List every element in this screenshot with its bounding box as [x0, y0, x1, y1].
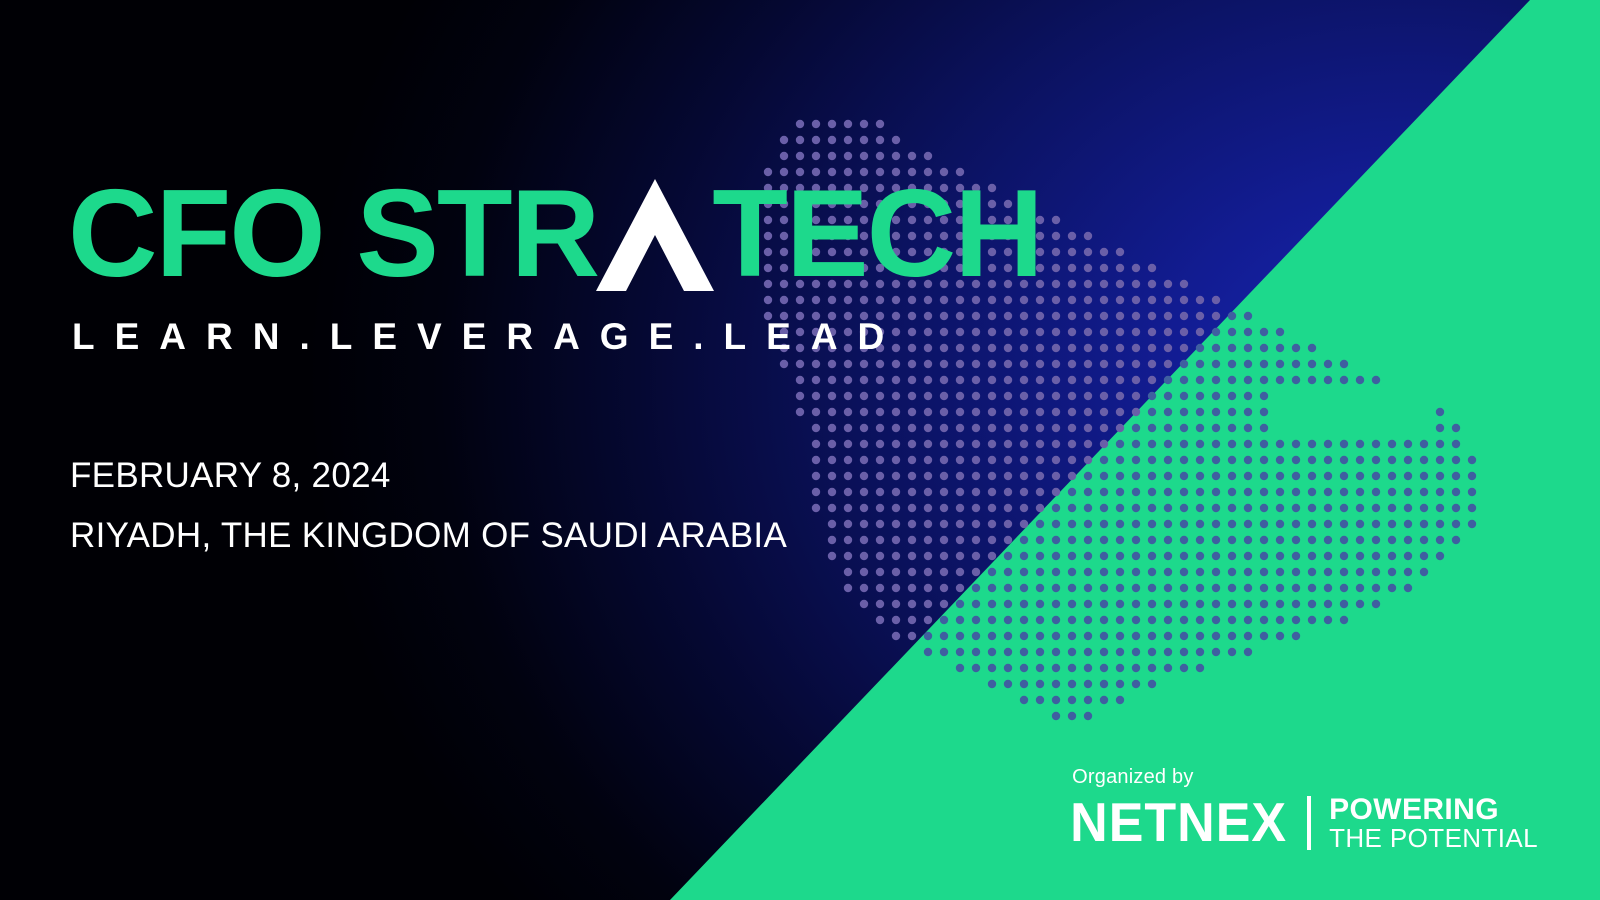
event-location: RIYADH, THE KINGDOM OF SAUDI ARABIA — [70, 516, 787, 556]
organizer-tagline-line2: THE POTENTIAL — [1329, 825, 1538, 852]
organizer-tagline: POWERING THE POTENTIAL — [1329, 795, 1538, 852]
headline-part-1: CFO STR — [68, 172, 598, 296]
event-banner: CFO STR TECH LEARN.LEVERAGE.LEAD FEBRUAR… — [0, 0, 1600, 900]
page-title: CFO STR TECH — [68, 172, 1042, 296]
organizer-lockup-row: NETNEX POWERING THE POTENTIAL — [1070, 795, 1538, 852]
organizer-logo: Organized by NETNEX POWERING THE POTENTI… — [1070, 766, 1538, 852]
organizer-brand-name: NETNEX — [1070, 796, 1287, 851]
organizer-tagline-line1: POWERING — [1329, 795, 1538, 826]
headline-letter-a-chevron-icon — [596, 180, 714, 288]
headline-part-2: TECH — [712, 172, 1042, 296]
organizer-divider — [1307, 796, 1311, 850]
organized-by-label: Organized by — [1070, 766, 1538, 789]
event-date: FEBRUARY 8, 2024 — [70, 456, 391, 496]
headline-subtitle: LEARN.LEVERAGE.LEAD — [72, 316, 904, 358]
